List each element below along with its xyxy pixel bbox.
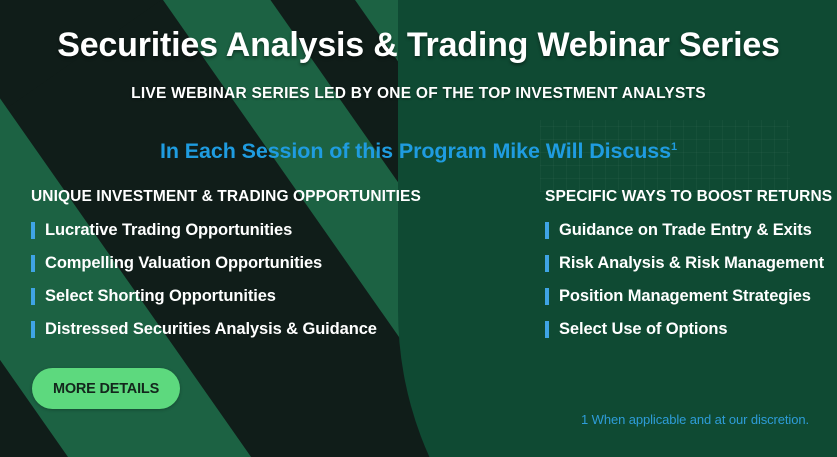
column-boost-returns: SPECIFIC WAYS TO BOOST RETURNS Guidance … [475,188,837,351]
list-item: Select Use of Options [545,318,837,340]
bullet-marker-icon [31,255,35,272]
bullet-marker-icon [545,288,549,305]
banner-content: Securities Analysis & Trading Webinar Se… [0,0,837,457]
webinar-promo-banner: Securities Analysis & Trading Webinar Se… [0,0,837,457]
bullet-marker-icon [31,321,35,338]
headline-footnote-marker: 1 [671,141,677,153]
list-item-label: Lucrative Trading Opportunities [45,221,292,240]
list-item-label: Distressed Securities Analysis & Guidanc… [45,320,377,339]
headline-text: In Each Session of this Program Mike Wil… [160,139,671,163]
bullet-marker-icon [545,321,549,338]
bullet-marker-icon [545,222,549,239]
column-heading: UNIQUE INVESTMENT & TRADING OPPORTUNITIE… [31,188,475,206]
banner-headline: In Each Session of this Program Mike Wil… [0,139,837,164]
list-item: Select Shorting Opportunities [31,285,475,307]
list-item: Compelling Valuation Opportunities [31,252,475,274]
list-item: Position Management Strategies [545,285,837,307]
banner-subtitle: LIVE WEBINAR SERIES LED BY ONE OF THE TO… [0,85,837,103]
list-item-label: Position Management Strategies [559,287,811,306]
list-item-label: Select Use of Options [559,320,727,339]
list-item: Risk Analysis & Risk Management [545,252,837,274]
list-item: Distressed Securities Analysis & Guidanc… [31,318,475,340]
column-heading: SPECIFIC WAYS TO BOOST RETURNS [545,188,837,206]
footnote-text: 1 When applicable and at our discretion. [581,412,809,427]
list-item-label: Compelling Valuation Opportunities [45,254,322,273]
list-item-label: Guidance on Trade Entry & Exits [559,221,812,240]
list-item: Lucrative Trading Opportunities [31,219,475,241]
list-item-label: Risk Analysis & Risk Management [559,254,824,273]
list-item-label: Select Shorting Opportunities [45,287,276,306]
bullet-marker-icon [545,255,549,272]
bullet-list: Guidance on Trade Entry & Exits Risk Ana… [545,219,837,340]
list-item: Guidance on Trade Entry & Exits [545,219,837,241]
bullet-marker-icon [31,222,35,239]
benefit-columns: UNIQUE INVESTMENT & TRADING OPPORTUNITIE… [0,188,837,351]
column-unique-opportunities: UNIQUE INVESTMENT & TRADING OPPORTUNITIE… [0,188,475,351]
banner-title: Securities Analysis & Trading Webinar Se… [0,26,837,65]
bullet-list: Lucrative Trading Opportunities Compelli… [31,219,475,340]
more-details-button[interactable]: MORE DETAILS [32,368,180,409]
bullet-marker-icon [31,288,35,305]
